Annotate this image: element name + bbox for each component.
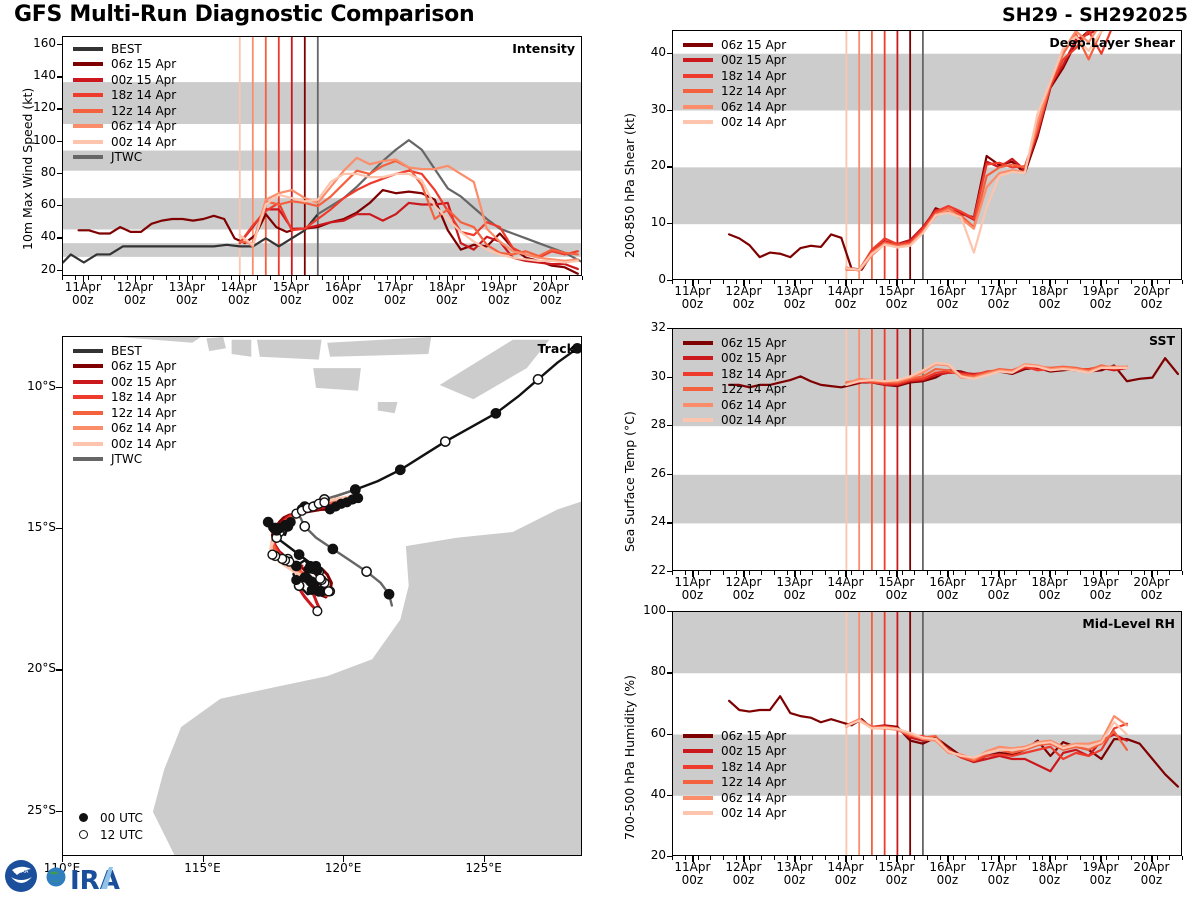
x-minor-tick — [1042, 280, 1043, 284]
y-tick-label: 40 — [626, 45, 666, 59]
coastline-landmass — [153, 501, 582, 856]
x-tick-mark — [83, 276, 84, 282]
x-minor-tick — [1169, 856, 1170, 860]
x-minor-tick — [231, 276, 232, 280]
x-minor-tick — [1093, 280, 1094, 284]
x-minor-tick — [309, 276, 310, 280]
legend-entry: 06z 14 Apr — [73, 119, 176, 135]
legend-swatch — [73, 364, 103, 368]
legend-entry: 12z 14 Apr — [683, 84, 786, 100]
map-x-tick-mark — [203, 856, 204, 862]
x-tick-day: 16Apr — [929, 575, 965, 589]
legend-label: 00z 15 Apr — [721, 351, 786, 365]
x-tick-day: 20Apr — [1133, 860, 1169, 874]
x-tick-mark — [896, 856, 897, 862]
map-y-tick-mark — [56, 811, 62, 812]
x-tick-hour: 00z — [436, 293, 458, 307]
y-tick-label: 100 — [626, 603, 666, 617]
x-minor-tick — [192, 276, 193, 280]
legend-label: 00z 14 Apr — [721, 806, 786, 820]
x-minor-tick — [1016, 856, 1017, 860]
y-tick-mark — [57, 173, 62, 174]
x-minor-tick — [478, 276, 479, 280]
y-tick-mark — [667, 522, 672, 523]
legend-swatch — [683, 372, 713, 376]
x-tick-hour: 00z — [988, 588, 1010, 602]
x-tick-hour: 00z — [682, 588, 704, 602]
legend-entry: 18z 14 Apr — [683, 68, 786, 84]
legend-entry: 00z 15 Apr — [683, 351, 786, 367]
coastline-landmass — [63, 337, 209, 343]
x-minor-tick — [1080, 280, 1081, 284]
x-minor-tick — [863, 280, 864, 284]
x-tick-day: 18Apr — [1031, 284, 1067, 298]
legend-entry: 18z 14 Apr — [683, 759, 786, 775]
map-y-tick-label: 10°S — [2, 379, 56, 393]
legend-entry: 18z 14 Apr — [73, 390, 176, 406]
x-minor-tick — [1169, 571, 1170, 575]
x-minor-tick — [75, 276, 76, 280]
y-tick-mark — [667, 425, 672, 426]
x-tick-mark — [1151, 571, 1152, 577]
x-tick-day: 17Apr — [377, 280, 413, 294]
legend-entry: BEST — [73, 343, 176, 359]
map-y-tick-mark — [56, 387, 62, 388]
legend-swatch — [73, 124, 103, 128]
x-tick-day: 16Apr — [929, 860, 965, 874]
legend-swatch — [683, 120, 713, 124]
legend-label: 00z 15 Apr — [721, 53, 786, 67]
legend-swatch — [683, 74, 713, 78]
x-minor-tick — [504, 276, 505, 280]
panel-sst: SST 06z 15 Apr00z 15 Apr18z 14 Apr12z 14… — [672, 328, 1182, 571]
x-tick-hour: 00z — [886, 588, 908, 602]
x-tick-mark — [794, 280, 795, 286]
x-minor-tick — [1169, 280, 1170, 284]
legend-entry: 06z 14 Apr — [73, 421, 176, 437]
y-tick-label: 30 — [626, 102, 666, 116]
x-minor-tick — [953, 280, 954, 284]
marker-legend-label: 12 UTC — [100, 828, 143, 842]
track-point-12utc — [533, 375, 542, 384]
x-tick-mark — [896, 571, 897, 577]
legend-label: BEST — [111, 42, 142, 56]
track-point-12utc — [316, 574, 325, 583]
y-tick-mark — [57, 76, 62, 77]
intensity-legend: BEST06z 15 Apr00z 15 Apr18z 14 Apr12z 14… — [73, 41, 176, 165]
legend-swatch — [683, 765, 713, 769]
map-y-tick-label: 25°S — [2, 803, 56, 817]
track-point-12utc — [300, 522, 309, 531]
legend-swatch — [73, 109, 103, 113]
coastline-landmass — [313, 368, 361, 391]
map-y-tick-mark — [56, 528, 62, 529]
map-x-tick-mark — [484, 856, 485, 862]
map-x-tick-label: 125°E — [449, 862, 519, 875]
x-minor-tick — [413, 276, 414, 280]
x-minor-tick — [965, 856, 966, 860]
x-tick-label: 11Apr00z — [53, 281, 113, 307]
legend-label: 00z 14 Apr — [721, 413, 786, 427]
x-tick-day: 13Apr — [169, 280, 205, 294]
x-minor-tick — [953, 856, 954, 860]
legend-entry: 00z 15 Apr — [73, 72, 176, 88]
x-minor-tick — [774, 280, 775, 284]
x-tick-hour: 00z — [176, 293, 198, 307]
x-tick-label: 15Apr00z — [261, 281, 321, 307]
x-minor-tick — [1182, 571, 1183, 575]
legend-swatch — [683, 387, 713, 391]
x-tick-hour: 00z — [784, 873, 806, 887]
y-tick-mark — [667, 377, 672, 378]
marker-legend-entry: 00 UTC — [73, 809, 143, 826]
track-point-12utc — [320, 498, 329, 507]
x-tick-hour: 00z — [733, 588, 755, 602]
x-tick-mark — [998, 571, 999, 577]
y-tick-mark — [57, 237, 62, 238]
x-minor-tick — [1055, 856, 1056, 860]
x-tick-day: 16Apr — [325, 280, 361, 294]
x-minor-tick — [774, 856, 775, 860]
track-point-00utc — [384, 590, 393, 599]
y-tick-label: 26 — [626, 466, 666, 480]
svg-text:IRA: IRA — [70, 866, 120, 896]
x-minor-tick — [582, 276, 583, 280]
shaded-band — [673, 167, 1182, 224]
x-tick-hour: 00z — [1039, 297, 1061, 311]
x-tick-mark — [845, 856, 846, 862]
legend-label: JTWC — [111, 150, 142, 164]
track-point-00utc — [491, 409, 500, 418]
track-point-00utc — [300, 573, 309, 582]
x-tick-mark — [1100, 571, 1101, 577]
x-minor-tick — [876, 280, 877, 284]
x-minor-tick — [1182, 856, 1183, 860]
x-tick-label: 20Apr00z — [521, 281, 581, 307]
x-minor-tick — [710, 280, 711, 284]
x-minor-tick — [569, 276, 570, 280]
x-minor-tick — [465, 276, 466, 280]
x-minor-tick — [1182, 280, 1183, 284]
x-minor-tick — [927, 856, 928, 860]
x-minor-tick — [787, 571, 788, 575]
x-minor-tick — [889, 280, 890, 284]
x-minor-tick — [387, 276, 388, 280]
legend-swatch — [73, 47, 103, 51]
x-tick-mark — [1100, 280, 1101, 286]
y-tick-mark — [667, 734, 672, 735]
x-tick-day: 11Apr — [65, 280, 101, 294]
y-tick-label: 32 — [626, 320, 666, 334]
legend-swatch — [73, 395, 103, 399]
x-tick-day: 13Apr — [776, 575, 812, 589]
legend-label: 06z 14 Apr — [111, 119, 176, 133]
x-minor-tick — [940, 571, 941, 575]
x-minor-tick — [270, 276, 271, 280]
legend-label: 18z 14 Apr — [721, 367, 786, 381]
x-minor-tick — [851, 280, 852, 284]
x-tick-hour: 00z — [682, 297, 704, 311]
x-minor-tick — [426, 276, 427, 280]
x-tick-hour: 00z — [488, 293, 510, 307]
legend-entry: 06z 14 Apr — [683, 790, 786, 806]
legend-entry: 12z 14 Apr — [683, 775, 786, 791]
x-tick-hour: 00z — [124, 293, 146, 307]
y-tick-label: 28 — [626, 417, 666, 431]
x-tick-day: 20Apr — [1133, 575, 1169, 589]
legend-label: 12z 14 Apr — [721, 84, 786, 98]
y-tick-mark — [57, 44, 62, 45]
x-minor-tick — [736, 571, 737, 575]
x-tick-mark — [692, 856, 693, 862]
y-tick-label: 40 — [626, 787, 666, 801]
legend-swatch — [683, 403, 713, 407]
map-x-tick-mark — [343, 856, 344, 862]
x-minor-tick — [812, 856, 813, 860]
x-minor-tick — [452, 276, 453, 280]
x-tick-mark — [998, 856, 999, 862]
y-tick-mark — [667, 328, 672, 329]
x-minor-tick — [940, 856, 941, 860]
legend-swatch — [683, 43, 713, 47]
x-minor-tick — [914, 571, 915, 575]
legend-entry: 00z 15 Apr — [683, 53, 786, 69]
y-tick-label: 140 — [16, 68, 56, 82]
svg-text:NOAA: NOAA — [14, 869, 29, 875]
legend-swatch — [73, 380, 103, 384]
y-tick-label: 0 — [626, 272, 666, 286]
x-tick-day: 15Apr — [273, 280, 309, 294]
x-tick-mark — [743, 280, 744, 286]
x-minor-tick — [914, 856, 915, 860]
x-minor-tick — [978, 280, 979, 284]
x-minor-tick — [927, 280, 928, 284]
x-tick-day: 15Apr — [878, 575, 914, 589]
legend-entry: 06z 15 Apr — [73, 359, 176, 375]
y-tick-label: 60 — [16, 197, 56, 211]
legend-entry: 00z 14 Apr — [683, 806, 786, 822]
shear-panel-label: Deep-Layer Shear — [1049, 35, 1175, 50]
sst-y-axis-label: Sea Surface Temp (°C) — [622, 411, 637, 552]
x-tick-mark — [794, 571, 795, 577]
x-tick-day: 15Apr — [878, 284, 914, 298]
x-minor-tick — [851, 856, 852, 860]
x-minor-tick — [825, 856, 826, 860]
legend-swatch — [683, 58, 713, 62]
y-tick-mark — [667, 672, 672, 673]
x-tick-hour: 00z — [937, 588, 959, 602]
x-tick-mark — [395, 276, 396, 282]
track-point-12utc — [362, 567, 371, 576]
x-minor-tick — [965, 280, 966, 284]
y-tick-label: 30 — [626, 369, 666, 383]
shear-legend: 06z 15 Apr00z 15 Apr18z 14 Apr12z 14 Apr… — [683, 37, 786, 130]
x-tick-hour: 00z — [1090, 588, 1112, 602]
x-tick-hour: 00z — [1141, 873, 1163, 887]
legend-label: 00z 14 Apr — [721, 115, 786, 129]
x-minor-tick — [1131, 571, 1132, 575]
x-minor-tick — [787, 280, 788, 284]
x-minor-tick — [1118, 571, 1119, 575]
y-tick-mark — [57, 270, 62, 271]
x-minor-tick — [1131, 856, 1132, 860]
x-tick-hour: 00z — [1039, 588, 1061, 602]
x-tick-hour: 00z — [1090, 873, 1112, 887]
x-tick-hour: 00z — [784, 297, 806, 311]
track-point-00utc — [292, 576, 301, 585]
x-tick-label: 13Apr00z — [157, 281, 217, 307]
x-minor-tick — [698, 856, 699, 860]
x-tick-hour: 00z — [1039, 873, 1061, 887]
x-minor-tick — [889, 571, 890, 575]
x-tick-hour: 00z — [988, 873, 1010, 887]
x-minor-tick — [838, 280, 839, 284]
y-tick-mark — [667, 166, 672, 167]
x-minor-tick — [991, 571, 992, 575]
x-minor-tick — [1042, 856, 1043, 860]
x-minor-tick — [1144, 856, 1145, 860]
track-panel-label: Track — [538, 341, 575, 356]
x-tick-label: 18Apr00z — [417, 281, 477, 307]
x-tick-label: 16Apr00z — [313, 281, 373, 307]
x-minor-tick — [1029, 856, 1030, 860]
x-minor-tick — [1067, 571, 1068, 575]
rh-legend: 06z 15 Apr00z 15 Apr18z 14 Apr12z 14 Apr… — [683, 728, 786, 821]
x-tick-hour: 00z — [1141, 297, 1163, 311]
x-tick-hour: 00z — [886, 297, 908, 311]
x-minor-tick — [685, 280, 686, 284]
x-minor-tick — [296, 276, 297, 280]
y-tick-mark — [667, 795, 672, 796]
intensity-panel-label: Intensity — [512, 41, 575, 56]
x-tick-mark — [896, 280, 897, 286]
x-tick-day: 14Apr — [827, 860, 863, 874]
legend-entry: 12z 14 Apr — [73, 103, 176, 119]
x-minor-tick — [978, 856, 979, 860]
x-tick-mark — [447, 276, 448, 282]
track-point-12utc — [313, 607, 322, 616]
x-minor-tick — [101, 276, 102, 280]
legend-entry: 06z 15 Apr — [73, 57, 176, 73]
x-tick-label: 20Apr00z — [1121, 285, 1181, 311]
noaa-seabird-logo: NOAA — [5, 860, 37, 892]
x-tick-day: 11Apr — [674, 575, 710, 589]
x-minor-tick — [838, 856, 839, 860]
legend-entry: 06z 14 Apr — [683, 397, 786, 413]
filled-circle-icon — [79, 813, 88, 822]
x-minor-tick — [749, 856, 750, 860]
marker-legend-entry: 12 UTC — [73, 826, 143, 843]
x-tick-day: 12Apr — [725, 284, 761, 298]
legend-entry: 00z 14 Apr — [683, 115, 786, 131]
legend-swatch — [73, 140, 103, 144]
x-minor-tick — [1042, 571, 1043, 575]
legend-label: 12z 14 Apr — [721, 382, 786, 396]
x-tick-day: 14Apr — [221, 280, 257, 294]
panel-track-map: Track BEST06z 15 Apr00z 15 Apr18z 14 Apr… — [62, 336, 582, 856]
x-tick-day: 14Apr — [827, 284, 863, 298]
x-minor-tick — [800, 856, 801, 860]
x-minor-tick — [1004, 571, 1005, 575]
x-tick-day: 17Apr — [980, 860, 1016, 874]
x-minor-tick — [736, 280, 737, 284]
x-minor-tick — [1080, 571, 1081, 575]
y-tick-label: 80 — [16, 165, 56, 179]
legend-entry: 00z 15 Apr — [73, 374, 176, 390]
x-minor-tick — [1080, 856, 1081, 860]
x-tick-mark — [343, 276, 344, 282]
x-minor-tick — [1106, 571, 1107, 575]
marker-legend-label: 00 UTC — [100, 811, 143, 825]
track-point-00utc — [396, 465, 405, 474]
x-tick-day: 11Apr — [674, 284, 710, 298]
x-minor-tick — [838, 571, 839, 575]
x-minor-tick — [1016, 280, 1017, 284]
x-minor-tick — [1118, 856, 1119, 860]
x-tick-day: 17Apr — [980, 575, 1016, 589]
x-tick-day: 19Apr — [1082, 284, 1118, 298]
x-minor-tick — [953, 571, 954, 575]
x-tick-day: 19Apr — [1082, 860, 1118, 874]
x-tick-mark — [1151, 280, 1152, 286]
legend-swatch — [73, 426, 103, 430]
legend-entry: 00z 14 Apr — [683, 413, 786, 429]
x-tick-hour: 00z — [228, 293, 250, 307]
x-tick-label: 17Apr00z — [365, 281, 425, 307]
x-minor-tick — [876, 856, 877, 860]
y-tick-label: 22 — [626, 563, 666, 577]
legend-label: 06z 15 Apr — [721, 38, 786, 52]
legend-label: 18z 14 Apr — [111, 88, 176, 102]
x-tick-hour: 00z — [682, 873, 704, 887]
map-x-tick-label: 115°E — [168, 862, 238, 875]
legend-label: 18z 14 Apr — [111, 390, 176, 404]
x-minor-tick — [787, 856, 788, 860]
x-minor-tick — [218, 276, 219, 280]
x-minor-tick — [1055, 571, 1056, 575]
x-minor-tick — [1093, 856, 1094, 860]
x-minor-tick — [685, 856, 686, 860]
rh-panel-label: Mid-Level RH — [1082, 616, 1175, 631]
legend-entry: 12z 14 Apr — [73, 405, 176, 421]
track-point-12utc — [268, 550, 277, 559]
x-tick-day: 19Apr — [481, 280, 517, 294]
x-tick-mark — [1100, 856, 1101, 862]
y-tick-label: 40 — [16, 229, 56, 243]
legend-swatch — [73, 62, 103, 66]
x-tick-day: 19Apr — [1082, 575, 1118, 589]
legend-label: 06z 14 Apr — [721, 791, 786, 805]
x-minor-tick — [723, 571, 724, 575]
x-minor-tick — [322, 276, 323, 280]
x-minor-tick — [863, 856, 864, 860]
track-legend: BEST06z 15 Apr00z 15 Apr18z 14 Apr12z 14… — [73, 343, 176, 467]
x-tick-mark — [947, 856, 948, 862]
y-tick-label: 160 — [16, 36, 56, 50]
track-point-00utc — [295, 550, 304, 559]
x-minor-tick — [761, 571, 762, 575]
x-tick-mark — [499, 276, 500, 282]
x-minor-tick — [723, 856, 724, 860]
y-tick-mark — [667, 53, 672, 54]
sst-panel-label: SST — [1149, 333, 1175, 348]
x-minor-tick — [761, 856, 762, 860]
x-minor-tick — [812, 280, 813, 284]
y-tick-mark — [57, 108, 62, 109]
legend-swatch — [683, 749, 713, 753]
x-tick-mark — [1049, 856, 1050, 862]
legend-swatch — [683, 89, 713, 93]
